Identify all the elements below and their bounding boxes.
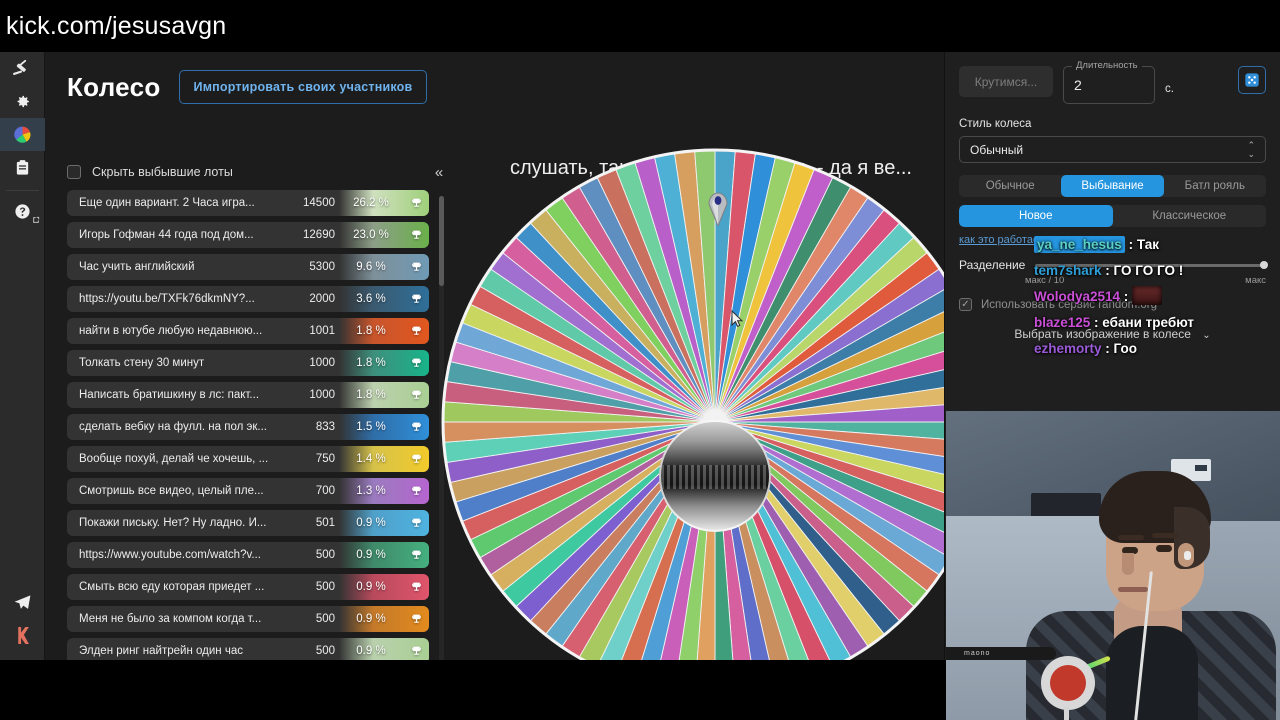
- lot-gradient: 23.0 %: [339, 222, 429, 248]
- trophy-icon[interactable]: [403, 293, 429, 306]
- trophy-icon[interactable]: [403, 357, 429, 370]
- duration-field[interactable]: Длительность 2: [1063, 66, 1155, 104]
- cam-mic-boom: [946, 647, 1056, 660]
- wheel[interactable]: [435, 142, 995, 702]
- sidebar-divider: [6, 190, 39, 191]
- lot-row[interactable]: Еще один вариант. 2 Часа игра...1450026.…: [67, 190, 429, 216]
- trophy-icon[interactable]: [403, 613, 429, 626]
- spin-controls-row: Крутимся... Длительность 2 с.: [959, 66, 1266, 104]
- sidebar-rail: [0, 52, 45, 660]
- trophy-icon[interactable]: [403, 325, 429, 338]
- mode-tab-1[interactable]: Выбывание: [1061, 175, 1163, 197]
- wheel-center-image: [659, 420, 771, 532]
- lot-amount: 750: [281, 453, 339, 465]
- lot-gradient: 1.8 %: [339, 350, 429, 376]
- lot-percent: 1.8 %: [339, 325, 403, 337]
- pie-chart-icon: [13, 125, 32, 144]
- lot-name: https://www.youtube.com/watch?v...: [67, 549, 281, 561]
- cam-nose: [1122, 553, 1134, 575]
- lot-percent: 1.4 %: [339, 453, 403, 465]
- lot-name: Покажи письку. Нет? Ну ладно. И...: [67, 517, 281, 529]
- sidebar-item-help[interactable]: [0, 195, 45, 228]
- cam-mic-brand: maono: [964, 650, 990, 657]
- hide-eliminated-checkbox[interactable]: [67, 165, 81, 179]
- lot-amount: 12690: [281, 229, 339, 241]
- page-header: Колесо Импортировать своих участников: [67, 70, 427, 104]
- lot-percent: 0.9 %: [339, 613, 403, 625]
- split-min-mark: макс / 10: [1025, 275, 1064, 286]
- lot-name: Смотришь все видео, целый пле...: [67, 485, 281, 497]
- main-content: Колесо Импортировать своих участников Ск…: [45, 52, 944, 660]
- wheel-style-value: Обычный: [970, 143, 1023, 157]
- spin-button[interactable]: Крутимся...: [959, 66, 1053, 97]
- lot-name: https://youtu.be/TXFk76dkmNY?...: [67, 293, 281, 305]
- trophy-icon[interactable]: [403, 421, 429, 434]
- gear-icon: [14, 93, 31, 110]
- wheel-style-select[interactable]: Обычный ⌃⌄: [959, 136, 1266, 163]
- lot-row[interactable]: Смотришь все видео, целый пле...7001.3 %: [67, 478, 429, 504]
- randomorg-row[interactable]: ✓ Использовать сервис random.org: [959, 298, 1266, 311]
- lot-amount: 501: [281, 517, 339, 529]
- webcam-feed: maono: [946, 411, 1280, 720]
- wheel-style-label: Стиль колеса: [959, 118, 1266, 130]
- lot-name: Вообще похуй, делай че хочешь, ...: [67, 453, 281, 465]
- split-slider-knob[interactable]: [1260, 261, 1268, 269]
- trophy-icon[interactable]: [403, 453, 429, 466]
- lot-gradient: 3.6 %: [339, 286, 429, 312]
- hide-eliminated-row[interactable]: Скрыть выбывшие лоты: [67, 165, 233, 179]
- lot-name: Меня не было за компом когда т...: [67, 613, 281, 625]
- screen: kick.com/jesusavgn: [0, 0, 1280, 720]
- lot-amount: 1000: [281, 389, 339, 401]
- trophy-icon[interactable]: [403, 517, 429, 530]
- lot-list[interactable]: Еще один вариант. 2 Часа игра...1450026.…: [67, 190, 445, 684]
- mouse-cursor: [731, 310, 743, 333]
- randomorg-label: Использовать сервис random.org: [981, 299, 1157, 311]
- lot-name: сделать вебку на фулл. на пол эк...: [67, 421, 281, 433]
- question-circle-icon: [14, 203, 31, 220]
- lot-name: Толкать стену 30 минут: [67, 357, 281, 369]
- lot-percent: 0.9 %: [339, 549, 403, 561]
- lot-name: Еще один вариант. 2 Часа игра...: [67, 197, 281, 209]
- lot-percent: 1.8 %: [339, 357, 403, 369]
- lot-gradient: 1.8 %: [339, 318, 429, 344]
- external-link-icon: [32, 216, 40, 224]
- lot-amount: 1001: [281, 325, 339, 337]
- wheel-pointer-icon: [708, 192, 728, 224]
- lot-percent: 0.9 %: [339, 581, 403, 593]
- split-slider[interactable]: [1035, 264, 1266, 267]
- cam-brow-left: [1118, 535, 1144, 540]
- trophy-icon[interactable]: [403, 645, 429, 658]
- variant-tab-0[interactable]: Новое: [959, 205, 1113, 227]
- cam-mic-logo: [1050, 665, 1086, 701]
- lot-name: Час учить английский: [67, 261, 281, 273]
- cam-eye-right: [1156, 545, 1172, 552]
- lot-row[interactable]: https://youtu.be/TXFk76dkmNY?...20003.6 …: [67, 286, 429, 312]
- split-label: Разделение: [959, 258, 1025, 272]
- split-row: Разделение: [959, 258, 1266, 272]
- cam-mic-stand: [1064, 707, 1069, 720]
- lot-name: найти в ютубе любую недавнюю...: [67, 325, 281, 337]
- url-text: kick.com/jesusavgn: [0, 12, 226, 41]
- sidebar-item-wheel[interactable]: [0, 118, 45, 151]
- lot-gradient: 0.9 %: [339, 510, 429, 536]
- kick-logo-icon: [14, 626, 31, 645]
- lot-percent: 23.0 %: [339, 229, 403, 241]
- lot-amount: 500: [281, 581, 339, 593]
- lot-amount: 833: [281, 421, 339, 433]
- lot-gradient: 1.5 %: [339, 414, 429, 440]
- trophy-icon[interactable]: [403, 197, 429, 210]
- page-title: Колесо: [67, 72, 161, 103]
- lot-name: Элден ринг найтрейн один час: [67, 645, 281, 657]
- lot-amount: 500: [281, 549, 339, 561]
- sidebar-item-settings[interactable]: [0, 85, 45, 118]
- lot-amount: 700: [281, 485, 339, 497]
- lot-percent: 1.5 %: [339, 421, 403, 433]
- lot-amount: 5300: [281, 261, 339, 273]
- lot-gradient: 1.3 %: [339, 478, 429, 504]
- mode-tab-2[interactable]: Батл рояль: [1164, 175, 1266, 197]
- pick-wheel-image-button[interactable]: Выбрать изображение в колесе ⌄: [959, 327, 1266, 341]
- trophy-icon[interactable]: [403, 485, 429, 498]
- cam-earbud: [1184, 551, 1191, 560]
- lot-gradient: 0.9 %: [339, 542, 429, 568]
- lot-row[interactable]: Толкать стену 30 минут10001.8 %: [67, 350, 429, 376]
- lot-gradient: 0.9 %: [339, 606, 429, 632]
- randomorg-checkbox[interactable]: ✓: [959, 298, 972, 311]
- lot-row[interactable]: Меня не было за компом когда т...5000.9 …: [67, 606, 429, 632]
- chevron-down-icon: ⌄: [1202, 330, 1210, 341]
- lot-gradient: 9.6 %: [339, 254, 429, 280]
- lot-name: Написать братишкину в лс: пакт...: [67, 389, 281, 401]
- lot-row[interactable]: Покажи письку. Нет? Ну ладно. И...5010.9…: [67, 510, 429, 536]
- telegram-icon: [13, 593, 32, 612]
- lot-amount: 14500: [281, 197, 339, 209]
- lot-gradient: 26.2 %: [339, 190, 429, 216]
- split-max-mark: макс: [1245, 275, 1266, 286]
- chevron-updown-icon: ⌃⌄: [1247, 141, 1255, 159]
- lot-row[interactable]: Смыть всю еду которая приедет ...5000.9 …: [67, 574, 429, 600]
- lot-percent: 1.3 %: [339, 485, 403, 497]
- split-marks: макс / 10 макс: [959, 275, 1266, 286]
- lot-row[interactable]: сделать вебку на фулл. на пол эк...8331.…: [67, 414, 429, 440]
- how-it-works-link[interactable]: как это работает: [959, 234, 1044, 246]
- cam-mouth: [1118, 587, 1148, 592]
- lot-row[interactable]: Вообще похуй, делай че хочешь, ...7501.4…: [67, 446, 429, 472]
- lot-row[interactable]: Час учить английский53009.6 %: [67, 254, 429, 280]
- duration-unit: с.: [1165, 83, 1174, 95]
- trophy-icon[interactable]: [403, 229, 429, 242]
- lot-gradient: 1.4 %: [339, 446, 429, 472]
- lot-gradient: 0.9 %: [339, 574, 429, 600]
- pick-wheel-image-label: Выбрать изображение в колесе: [1014, 327, 1191, 341]
- lot-amount: 500: [281, 613, 339, 625]
- lot-gradient: 1.8 %: [339, 382, 429, 408]
- cam-tshirt: [1106, 626, 1198, 720]
- trophy-icon[interactable]: [403, 389, 429, 402]
- mode-tab-0[interactable]: Обычное: [959, 175, 1061, 197]
- lot-amount: 2000: [281, 293, 339, 305]
- variant-tabs[interactable]: НовоеКлассическое: [959, 205, 1266, 227]
- lot-row[interactable]: Написать братишкину в лс: пакт...10001.8…: [67, 382, 429, 408]
- variant-tab-1[interactable]: Классическое: [1113, 205, 1267, 227]
- lot-percent: 26.2 %: [339, 197, 403, 209]
- import-participants-button[interactable]: Импортировать своих участников: [179, 70, 428, 104]
- lot-row[interactable]: найти в ютубе любую недавнюю...10011.8 %: [67, 318, 429, 344]
- cam-brow-right: [1152, 533, 1178, 538]
- lot-percent: 3.6 %: [339, 293, 403, 305]
- duration-legend: Длительность: [1072, 60, 1142, 71]
- gavel-icon: [12, 59, 32, 79]
- lot-amount: 1000: [281, 357, 339, 369]
- sidebar-item-kick[interactable]: [0, 619, 45, 652]
- sidebar-item-auction[interactable]: [0, 52, 45, 85]
- lot-name: Смыть всю еду которая приедет ...: [67, 581, 281, 593]
- lot-amount: 500: [281, 645, 339, 657]
- trophy-icon[interactable]: [403, 581, 429, 594]
- clipboard-icon: [14, 159, 31, 176]
- duration-value[interactable]: 2: [1074, 77, 1082, 93]
- lot-percent: 9.6 %: [339, 261, 403, 273]
- sidebar-item-telegram[interactable]: [0, 586, 45, 619]
- lot-percent: 1.8 %: [339, 389, 403, 401]
- hide-eliminated-label: Скрыть выбывшие лоты: [92, 165, 233, 179]
- lot-name: Игорь Гофман 44 года под дом...: [67, 229, 281, 241]
- lot-percent: 0.9 %: [339, 645, 403, 657]
- lot-row[interactable]: https://www.youtube.com/watch?v...5000.9…: [67, 542, 429, 568]
- lot-row[interactable]: Игорь Гофман 44 года под дом...1269023.0…: [67, 222, 429, 248]
- mode-tabs[interactable]: ОбычноеВыбываниеБатл рояль: [959, 175, 1266, 197]
- sidebar-item-clipboard[interactable]: [0, 151, 45, 184]
- browser-url-bar: kick.com/jesusavgn: [0, 0, 1280, 52]
- lot-percent: 0.9 %: [339, 517, 403, 529]
- trophy-icon[interactable]: [403, 261, 429, 274]
- trophy-icon[interactable]: [403, 549, 429, 562]
- dice-icon[interactable]: [1238, 66, 1266, 94]
